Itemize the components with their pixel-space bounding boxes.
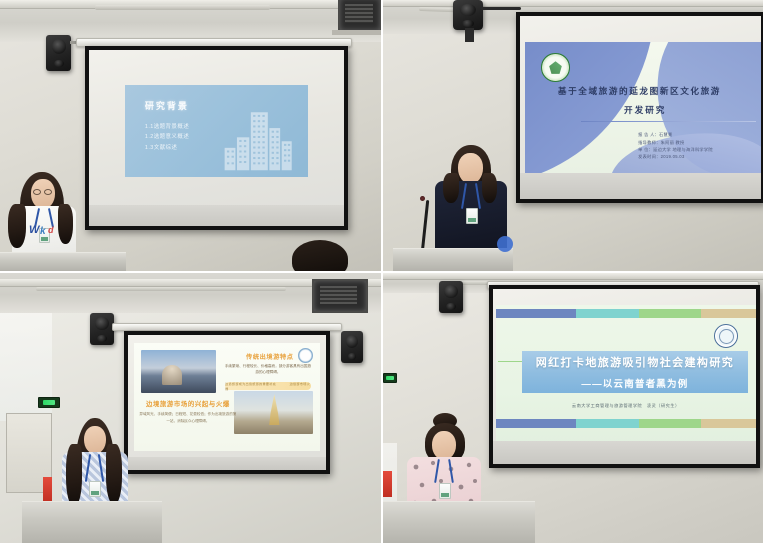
screen-bottom-bar bbox=[128, 457, 326, 471]
meta-presenter: 报 告 人：石慧景 bbox=[638, 131, 713, 138]
hair-side bbox=[8, 204, 26, 248]
podium bbox=[22, 501, 162, 543]
slide-photo-pagoda bbox=[234, 391, 312, 434]
slide-subtitle-bar: ——以云南普者黑为例 bbox=[522, 373, 749, 393]
face bbox=[84, 426, 106, 454]
slide-photo-europe bbox=[141, 350, 215, 393]
slide-title: 研究背景 bbox=[145, 99, 189, 112]
slide-body-right: 手续繁琐、行程较长、价格高而，部分游客具有出国旅游的心理障碍。 bbox=[223, 363, 312, 375]
projector-screen: 云南大学 网红打卡地旅游吸引物社会建构研究 ——以云南普者黑为例 云南大学工商管… bbox=[489, 285, 760, 468]
ceiling-pipe bbox=[95, 5, 270, 10]
ceiling-vent-icon bbox=[312, 279, 368, 313]
hair-side bbox=[443, 173, 459, 203]
photo-panel-top-right[interactable]: 基于全域旅游的延龙图新区文化旅游 开发研究 报 告 人：石慧景 指导教师：朱阿丽… bbox=[383, 0, 763, 271]
photo-panel-top-left[interactable]: 研究背景 1.1选题背景概述 1.2选题意义概述 1.3文献综述 bbox=[0, 0, 381, 271]
fire-extinguisher bbox=[383, 471, 392, 497]
exit-sign-icon bbox=[383, 373, 397, 383]
projector-cable bbox=[481, 7, 521, 10]
wall-speaker-icon bbox=[46, 35, 71, 71]
conference-badge bbox=[466, 208, 478, 224]
ceiling-beam bbox=[383, 273, 763, 280]
slide-color-bands-top bbox=[496, 309, 756, 318]
band-tan bbox=[701, 419, 756, 428]
exit-sign-icon bbox=[38, 397, 60, 408]
wall-speaker-icon bbox=[341, 331, 363, 363]
ceiling-beam bbox=[383, 0, 763, 7]
podium bbox=[0, 252, 126, 271]
slide-body-left: 异域风光、手续简便；日程短、花费较低；作为出境旅游的第一站，消除民众心理障碍。 bbox=[138, 411, 238, 424]
band-green bbox=[639, 419, 701, 428]
screen-bottom-bar bbox=[89, 205, 344, 226]
ceiling-vent-icon bbox=[338, 0, 381, 32]
hair-side bbox=[482, 173, 497, 203]
wall-speaker-icon bbox=[90, 313, 114, 345]
slide-title-line2: 开发研究 bbox=[624, 104, 666, 116]
projector-screen: 基于全域旅游的延龙图新区文化旅游 开发研究 报 告 人：石慧景 指导教师：朱阿丽… bbox=[516, 12, 763, 203]
slide-yanbian-title: 基于全域旅游的延龙图新区文化旅游 开发研究 报 告 人：石慧景 指导教师：朱阿丽… bbox=[525, 42, 761, 174]
screen-bottom-bar bbox=[493, 441, 756, 464]
audience-head bbox=[292, 240, 348, 271]
band-blue bbox=[496, 419, 577, 428]
slide-meta: 云南大学工商管理与旅游管理学院 凌灵（研究生） bbox=[496, 403, 756, 409]
fire-extinguisher bbox=[43, 477, 52, 503]
hair-side bbox=[66, 444, 82, 506]
slide-heading-left: 边境旅游市场的兴起与火爆 bbox=[140, 399, 237, 408]
slide-heading-right: 传统出境游特点 bbox=[227, 352, 313, 361]
slide-color-bands-bottom bbox=[496, 419, 756, 428]
band-green bbox=[639, 309, 701, 318]
slide-research-background: 研究背景 1.1选题背景概述 1.2选题意义概述 1.3文献综述 bbox=[125, 85, 309, 177]
water-bottle-cap bbox=[497, 236, 513, 252]
city-skyline-icon bbox=[220, 107, 297, 173]
photo-panel-bottom-right[interactable]: 云南大学 网红打卡地旅游吸引物社会建构研究 ——以云南普者黑为例 云南大学工商管… bbox=[383, 273, 763, 543]
slide-accent-line bbox=[498, 361, 524, 363]
projector-screen: 研究背景 1.1选题背景概述 1.2选题意义概述 1.3文献综述 bbox=[85, 46, 348, 230]
vent-trim bbox=[332, 30, 381, 35]
band-blue bbox=[496, 309, 577, 318]
list-item: 1.3文献综述 bbox=[145, 143, 189, 153]
photo-panel-bottom-left[interactable]: 传统出境游特点 手续繁琐、行程较长、价格高而，部分游客具有出国旅游的心理障碍。 … bbox=[0, 273, 381, 543]
slide-subtitle: ——以云南普者黑为例 bbox=[581, 376, 688, 390]
ceiling-pipe bbox=[36, 287, 286, 291]
microphone-icon bbox=[420, 196, 425, 201]
slide-divider bbox=[581, 121, 756, 123]
podium bbox=[393, 248, 513, 271]
band-tan bbox=[701, 309, 756, 318]
photo-collage: 研究背景 1.1选题背景概述 1.2选题意义概述 1.3文献综述 bbox=[0, 0, 763, 543]
svg-text:d: d bbox=[48, 225, 54, 235]
hair-side bbox=[106, 444, 122, 504]
list-item: 1.2选题意义概述 bbox=[145, 132, 189, 142]
slide-bullet-list: 1.1选题背景概述 1.2选题意义概述 1.3文献综述 bbox=[145, 122, 189, 153]
slide-wanghong-title: 云南大学 网红打卡地旅游吸引物社会建构研究 ——以云南普者黑为例 云南大学工商管… bbox=[496, 305, 756, 445]
wall-speaker-icon bbox=[439, 281, 463, 313]
slide-meta-block: 报 告 人：石慧景 指导教师：朱阿丽 教授 单 位：延边大学 地理与海洋科学学院… bbox=[638, 131, 713, 160]
glasses-icon bbox=[33, 189, 41, 195]
yanbian-university-logo-icon bbox=[541, 53, 569, 81]
screen-surface: 研究背景 1.1选题背景概述 1.2选题意义概述 1.3文献综述 bbox=[89, 50, 344, 226]
list-item: 1.1选题背景概述 bbox=[145, 122, 189, 132]
screen-surface: 云南大学 网红打卡地旅游吸引物社会建构研究 ——以云南普者黑为例 云南大学工商管… bbox=[493, 289, 756, 464]
slide-callout-pill: 边境旅游成为出境旅游的重要补充 边境游市场火爆 bbox=[225, 382, 311, 390]
meta-advisor: 指导教师：朱阿丽 教授 bbox=[638, 139, 713, 146]
podium bbox=[383, 501, 535, 543]
projector-mount bbox=[465, 28, 474, 42]
slide-title: 基于全域旅游的延龙图新区文化旅游 bbox=[558, 85, 761, 97]
meta-affiliation: 单 位：延边大学 地理与海洋科学学院 bbox=[638, 146, 713, 153]
screen-bottom-bar bbox=[520, 173, 761, 199]
slide-title-bar: 网红打卡地旅游吸引物社会建构研究 bbox=[522, 351, 749, 373]
face bbox=[458, 153, 483, 184]
screen-surface: 基于全域旅游的延龙图新区文化旅游 开发研究 报 告 人：石慧景 指导教师：朱阿丽… bbox=[520, 16, 761, 199]
slide-title: 网红打卡地旅游吸引物社会建构研究 bbox=[536, 354, 734, 370]
conference-badge bbox=[89, 481, 101, 497]
tshirt-graphic-icon: W k d bbox=[28, 218, 62, 240]
projector-screen-case bbox=[112, 323, 342, 331]
projector-screen: 传统出境游特点 手续繁琐、行程较长、价格高而，部分游客具有出国旅游的心理障碍。 … bbox=[124, 331, 330, 474]
meta-date: 发表时间：2019.05.03 bbox=[638, 153, 713, 160]
logo-seal bbox=[714, 324, 738, 348]
glasses-icon bbox=[44, 189, 52, 195]
band-teal bbox=[576, 419, 638, 428]
svg-text:k: k bbox=[40, 226, 46, 237]
band-teal bbox=[576, 309, 638, 318]
ceiling-projector-icon bbox=[453, 0, 483, 30]
conference-badge bbox=[439, 483, 451, 499]
face bbox=[432, 431, 456, 460]
screen-surface: 传统出境游特点 手续繁琐、行程较长、价格高而，部分游客具有出国旅游的心理障碍。 … bbox=[128, 335, 326, 470]
slide-border-tourism: 传统出境游特点 手续繁琐、行程较长、价格高而，部分游客具有出国旅游的心理障碍。 … bbox=[134, 343, 320, 451]
